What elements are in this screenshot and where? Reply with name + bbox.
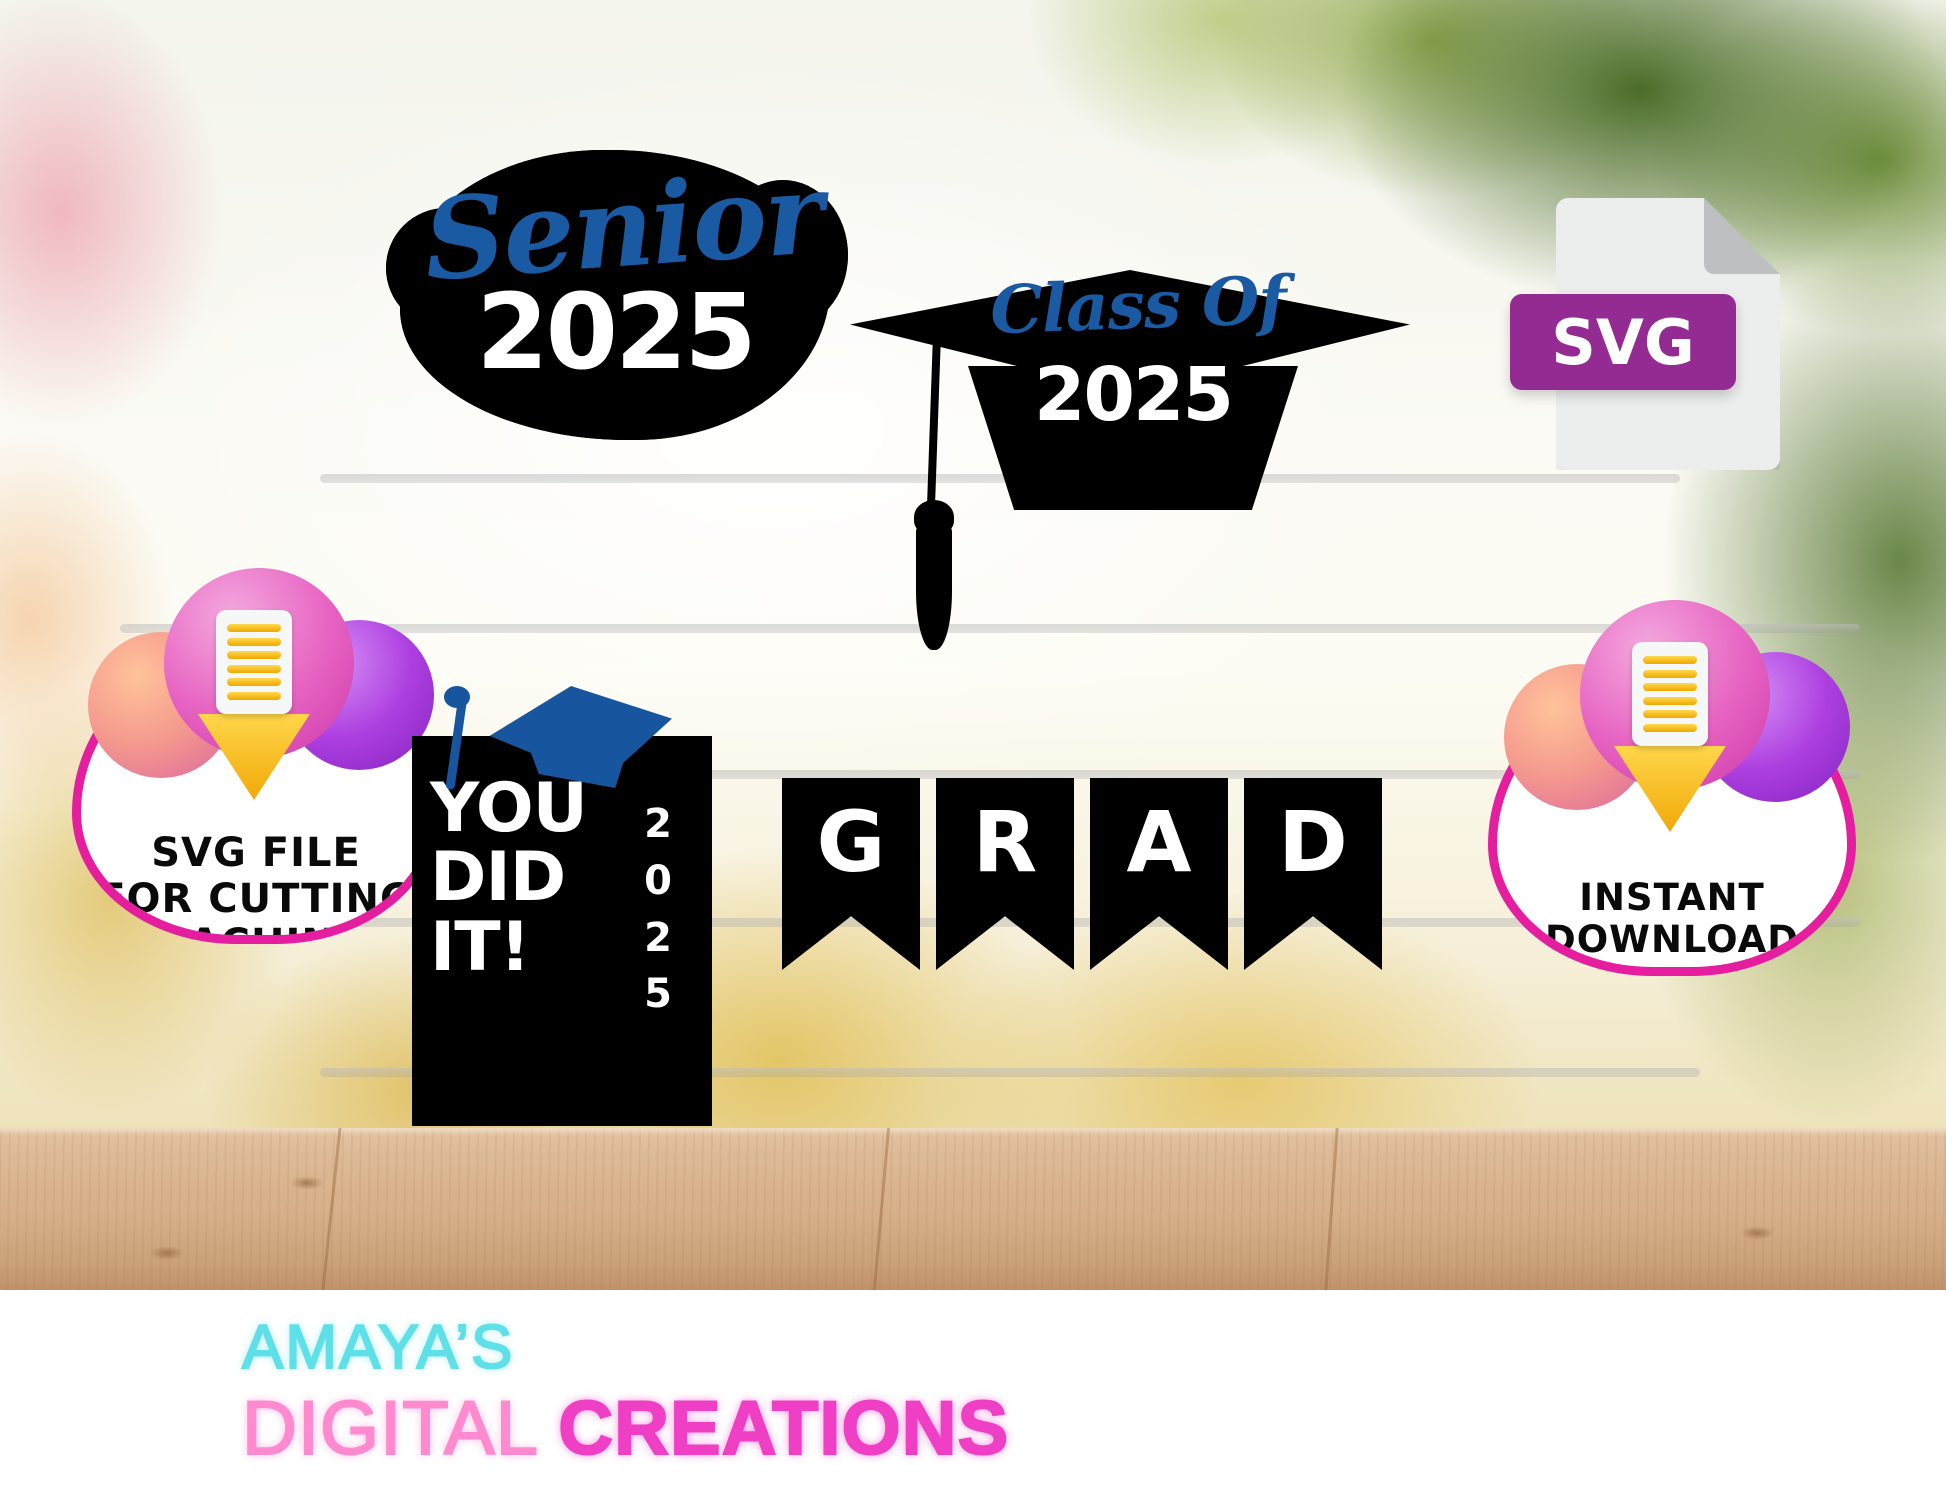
pennant-flag: R	[936, 778, 1074, 970]
doc-line	[1643, 724, 1697, 732]
senior-2025-sticker: Senior 2025	[400, 150, 830, 440]
doc-line	[1643, 697, 1697, 705]
pennant-letter: D	[1278, 800, 1348, 884]
badge-label: SVG FILE FOR CUTTING MACHINE	[97, 831, 415, 944]
senior-year-text: 2025	[400, 280, 830, 384]
doc-line	[1643, 710, 1697, 718]
wood-knot	[150, 1246, 184, 1260]
wood-plank-seam	[873, 1128, 890, 1290]
doc-line	[227, 665, 281, 673]
you-did-it-card: YOU DID IT! 2 0 2 5	[412, 736, 712, 1126]
blue-graduation-cap-icon	[432, 672, 672, 782]
year-digit: 2	[626, 796, 690, 853]
mockup-canvas: Senior 2025 Class Of 2025 SVG SVG FILE F…	[0, 0, 1946, 1503]
svg-format-tag: SVG	[1510, 294, 1736, 390]
cap-mortarboard	[478, 686, 672, 782]
wood-table-edge	[0, 1128, 1946, 1136]
card-headline-line-3: IT!	[430, 913, 620, 982]
pennant-letter: A	[1126, 800, 1191, 884]
card-headline-line-2: DID	[430, 843, 620, 912]
cap-script-text: Class Of	[967, 266, 1309, 344]
wood-plank-seam	[1324, 1128, 1338, 1290]
year-digit: 5	[626, 966, 690, 1023]
badge-label-line-1: SVG FILE	[97, 831, 415, 877]
card-vertical-year: 2 0 2 5	[626, 796, 690, 1023]
brand-logo-line-2: DIGITAL CREATIONS	[242, 1385, 1042, 1472]
pennant-letter: R	[973, 800, 1038, 884]
card-headline-line-1: YOU	[430, 774, 620, 843]
doc-line	[227, 678, 281, 686]
wood-table	[0, 1128, 1946, 1290]
year-digit: 2	[626, 910, 690, 967]
doc-line	[227, 692, 281, 700]
brand-logo-line-1: AMAYA’S	[242, 1312, 1042, 1383]
card-headline: YOU DID IT!	[430, 774, 620, 982]
pennant-flag: D	[1244, 778, 1382, 970]
svg-format-label: SVG	[1551, 306, 1695, 379]
brand-logo-creations: CREATIONS	[558, 1386, 1009, 1471]
badge-label-line-2: DOWNLOAD	[1513, 919, 1831, 961]
file-corner-fold-icon	[1704, 198, 1780, 274]
document-lines-icon	[216, 610, 292, 714]
badge-label-line-3: MACHINE	[97, 922, 415, 944]
wood-plank-seam	[321, 1128, 341, 1290]
footer-bar: AMAYA’S DIGITAL CREATIONS	[0, 1290, 1946, 1503]
doc-line	[1643, 656, 1697, 664]
cloud-download-icon	[1504, 600, 1840, 810]
cloud-download-icon	[88, 568, 424, 778]
cap-tassel	[445, 694, 467, 790]
cap-year-text: 2025	[968, 358, 1298, 432]
doc-line	[227, 638, 281, 646]
doc-line	[1643, 683, 1697, 691]
cap-tassel-cord	[927, 330, 941, 510]
doc-line	[227, 651, 281, 659]
doc-line	[227, 624, 281, 632]
wood-knot	[1740, 1226, 1774, 1240]
brand-logo-digital: DIGITAL	[242, 1386, 558, 1471]
grad-pennant-banner: G R A D	[782, 778, 1402, 978]
pennant-flag: G	[782, 778, 920, 970]
year-digit: 0	[626, 853, 690, 910]
graduation-cap-class-of-2025: Class Of 2025	[850, 270, 1410, 560]
brand-logo: AMAYA’S DIGITAL CREATIONS	[242, 1312, 1042, 1472]
document-lines-icon	[1632, 642, 1708, 746]
badge-svg-file-for-cutting-machine: SVG FILE FOR CUTTING MACHINE	[72, 576, 440, 944]
pennant-letter: G	[817, 800, 886, 884]
wood-knot	[290, 1176, 324, 1190]
badge-label-line-1: INSTANT	[1513, 877, 1831, 919]
badge-instant-download: INSTANT DOWNLOAD	[1488, 608, 1856, 976]
badge-label: INSTANT DOWNLOAD	[1513, 877, 1831, 961]
cap-tassel-tail	[916, 522, 952, 650]
pennant-flag: A	[1090, 778, 1228, 970]
badge-label-line-2: FOR CUTTING	[97, 877, 415, 923]
svg-file-icon: SVG	[1556, 198, 1780, 470]
doc-line	[1643, 670, 1697, 678]
